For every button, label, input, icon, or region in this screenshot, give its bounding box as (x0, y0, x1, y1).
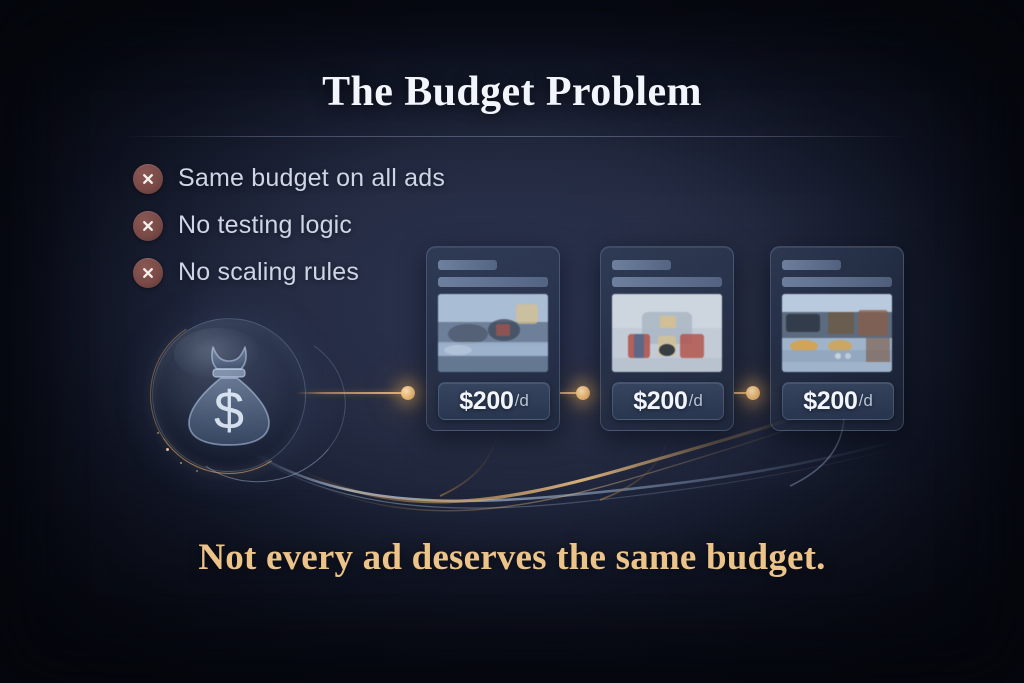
title-divider (122, 136, 908, 137)
ad-creative-thumbnail-1 (438, 294, 548, 372)
skeleton-line-subtitle (782, 277, 892, 287)
skeleton-line-title (438, 260, 497, 270)
x-circle-icon (133, 164, 163, 194)
budget-amount: $200 (459, 387, 513, 416)
ad-creative-thumbnail-3 (782, 294, 892, 372)
budget-badge[interactable]: $200 /d (612, 382, 724, 420)
ad-creative-thumbnail-2 (612, 294, 722, 372)
slide-tagline: Not every ad deserves the same budget. (0, 536, 1024, 579)
budget-amount: $200 (633, 387, 687, 416)
list-item: No scaling rules (133, 249, 445, 296)
list-item: Same budget on all ads (133, 155, 445, 202)
list-item-label: No testing logic (178, 211, 352, 240)
sparkle-particle (196, 470, 198, 472)
slide-title: The Budget Problem (0, 68, 1024, 116)
sparkle-particle (166, 448, 169, 451)
connector-dot-3 (746, 386, 760, 400)
budget-amount: $200 (803, 387, 857, 416)
x-circle-icon (133, 258, 163, 288)
list-item: No testing logic (133, 202, 445, 249)
connector-dot-1 (401, 386, 415, 400)
sparkle-particle (180, 462, 182, 464)
connector-dot-2 (576, 386, 590, 400)
budget-period: /d (859, 391, 873, 411)
problem-bullet-list: Same budget on all ads No testing logic … (133, 155, 445, 296)
ad-card[interactable]: $200 /d (600, 246, 734, 431)
slide-canvas: The Budget Problem Same budget on all ad… (0, 0, 1024, 683)
skeleton-line-title (612, 260, 671, 270)
ad-card[interactable]: $200 /d (770, 246, 904, 431)
list-item-label: No scaling rules (178, 258, 359, 287)
budget-badge[interactable]: $200 /d (782, 382, 894, 420)
x-circle-icon (133, 211, 163, 241)
budget-period: /d (515, 391, 529, 411)
ad-card[interactable]: $200 /d (426, 246, 560, 431)
budget-period: /d (689, 391, 703, 411)
budget-badge[interactable]: $200 /d (438, 382, 550, 420)
list-item-label: Same budget on all ads (178, 164, 445, 193)
skeleton-line-subtitle (438, 277, 548, 287)
connector-line-orb-to-card-1 (296, 392, 406, 394)
skeleton-line-subtitle (612, 277, 722, 287)
skeleton-line-title (782, 260, 841, 270)
sparkle-particle (157, 432, 159, 434)
